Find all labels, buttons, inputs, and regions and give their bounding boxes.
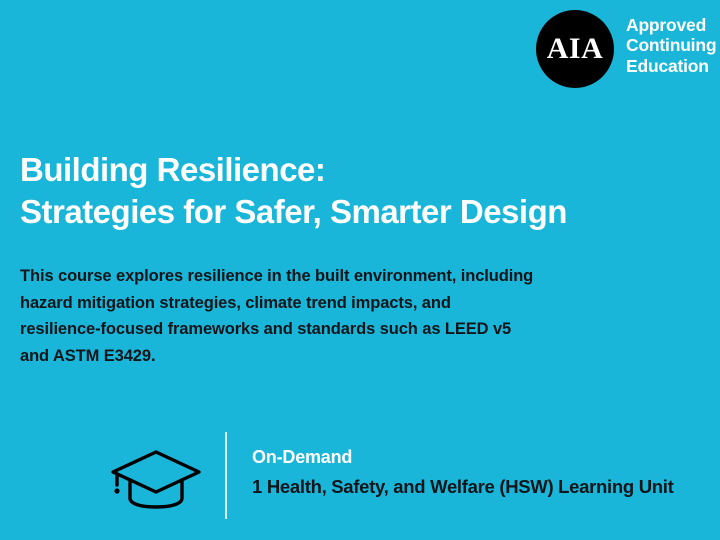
course-description: This course explores resilience in the b… (20, 263, 660, 370)
aia-seal-label: AIA (547, 34, 604, 64)
course-title-line-1: Building Resilience: (20, 149, 680, 191)
course-title: Building Resilience: Strategies for Safe… (20, 149, 680, 233)
course-description-line-4: and ASTM E3429. (20, 343, 660, 370)
accreditation-caption-line-3: Education (626, 56, 709, 76)
course-meta-footer: On-Demand 1 Health, Safety, and Welfare … (0, 430, 720, 525)
accreditation-caption-line-1: Approved (626, 15, 706, 35)
graduation-cap-icon (108, 447, 204, 509)
aia-seal-logo: AIA (536, 10, 614, 88)
course-description-line-2: hazard mitigation strategies, climate tr… (20, 290, 660, 317)
accreditation-caption: Approved Continuing Education (626, 10, 716, 76)
course-description-line-3: resilience-focused frameworks and standa… (20, 316, 660, 343)
footer-divider (225, 432, 227, 519)
accreditation-caption-line-2: Continuing (626, 35, 716, 55)
course-title-line-2: Strategies for Safer, Smarter Design (20, 191, 680, 233)
delivery-format-label: On-Demand (252, 445, 674, 469)
footer-meta: On-Demand 1 Health, Safety, and Welfare … (252, 445, 674, 500)
aia-accreditation-lockup: AIA Approved Continuing Education (536, 10, 716, 88)
course-promo-slide: AIA Approved Continuing Education Buildi… (0, 0, 720, 540)
learning-units-label: 1 Health, Safety, and Welfare (HSW) Lear… (252, 475, 674, 500)
course-description-line-1: This course explores resilience in the b… (20, 263, 660, 290)
